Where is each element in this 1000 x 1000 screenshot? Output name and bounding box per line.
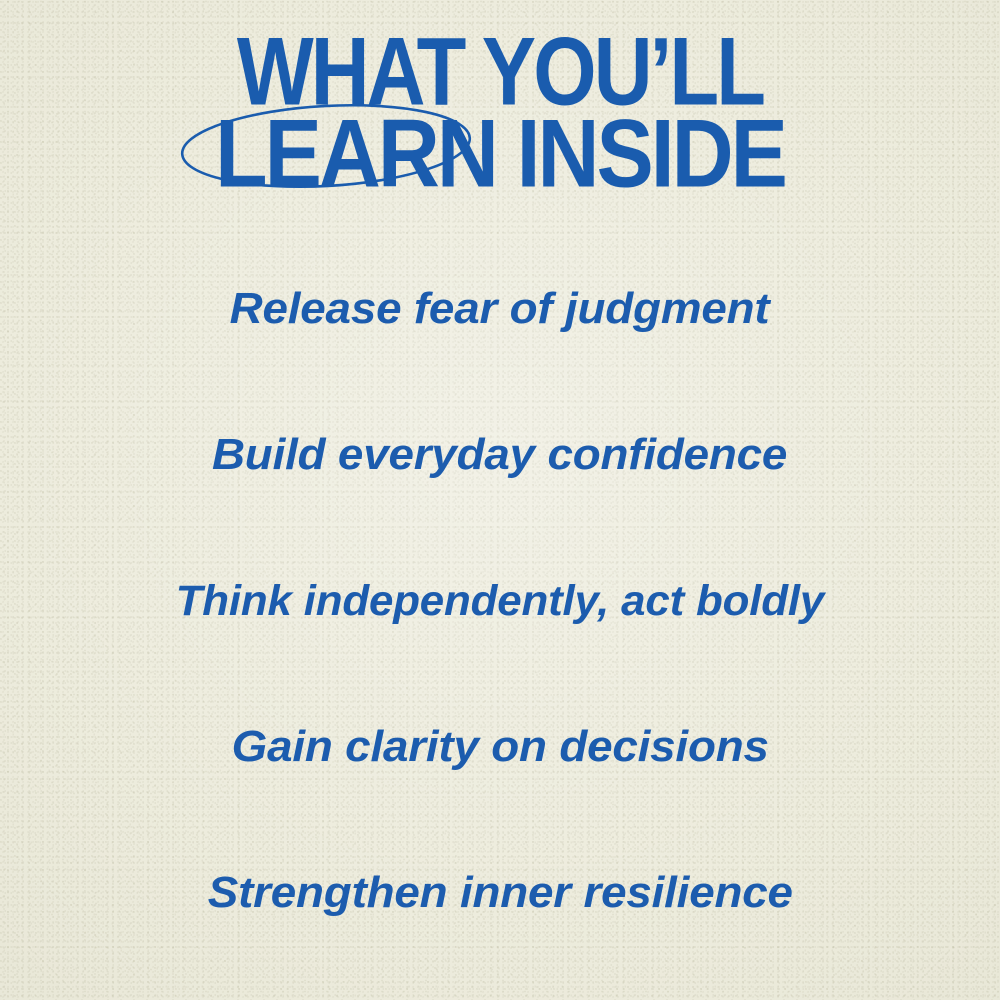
benefit-label-4: Gain clarity on decisions <box>231 725 768 769</box>
benefits-list: Release fear of judgment Build everyday … <box>0 236 1000 966</box>
benefit-label-5: Strengthen inner resilience <box>207 871 792 915</box>
list-item: Build everyday confidence <box>0 382 1000 528</box>
list-item: Strengthen inner resilience <box>0 820 1000 966</box>
poster-canvas: WHAT YOU’LL LEARN INSIDE Release fear of… <box>0 0 1000 1000</box>
page-title: WHAT YOU’LL LEARN INSIDE <box>0 40 1000 185</box>
benefit-label-3: Think independently, act boldly <box>176 580 824 623</box>
list-item: Gain clarity on decisions <box>0 674 1000 820</box>
list-item: Think independently, act boldly <box>0 528 1000 674</box>
benefit-label-2: Build everyday confidence <box>212 433 787 477</box>
list-item: Release fear of judgment <box>0 236 1000 382</box>
benefit-label-1: Release fear of judgment <box>230 287 770 331</box>
page-title-line-2: LEARN INSIDE <box>0 112 1000 195</box>
